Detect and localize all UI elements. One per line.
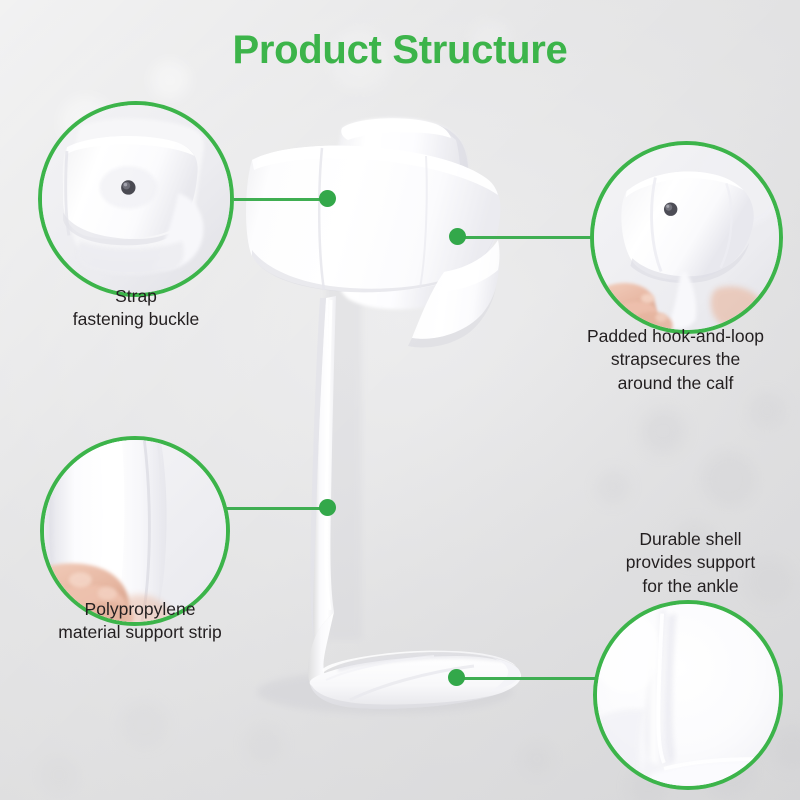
callout-circle-padded-hook-and-loop-strap — [590, 141, 783, 334]
connector-dot-durable-shell-ankle — [448, 669, 465, 686]
callout-label-polypropylene-support-strip: Polypropylene material support strip — [20, 598, 260, 645]
connector-line-polypropylene-support-strip — [212, 507, 334, 510]
product-image-ankle-foot-orthosis — [230, 100, 570, 740]
page-title: Product Structure — [0, 28, 800, 73]
callout-label-durable-shell-ankle: Durable shell provides support for the a… — [598, 528, 783, 598]
connector-dot-padded-hook-and-loop-strap — [449, 228, 466, 245]
connector-dot-strap-fastening-buckle — [319, 190, 336, 207]
connector-line-durable-shell-ankle — [457, 677, 605, 680]
connector-line-padded-hook-and-loop-strap — [458, 236, 598, 239]
callout-label-padded-hook-and-loop-strap: Padded hook-and-loop strapsecures the ar… — [563, 325, 788, 395]
connector-dot-polypropylene-support-strip — [319, 499, 336, 516]
callout-circle-strap-fastening-buckle — [38, 101, 234, 297]
callout-circle-durable-shell-ankle — [593, 600, 783, 790]
callout-label-strap-fastening-buckle: Strap fastening buckle — [26, 285, 246, 332]
infographic-canvas: Product Structure — [0, 0, 800, 800]
